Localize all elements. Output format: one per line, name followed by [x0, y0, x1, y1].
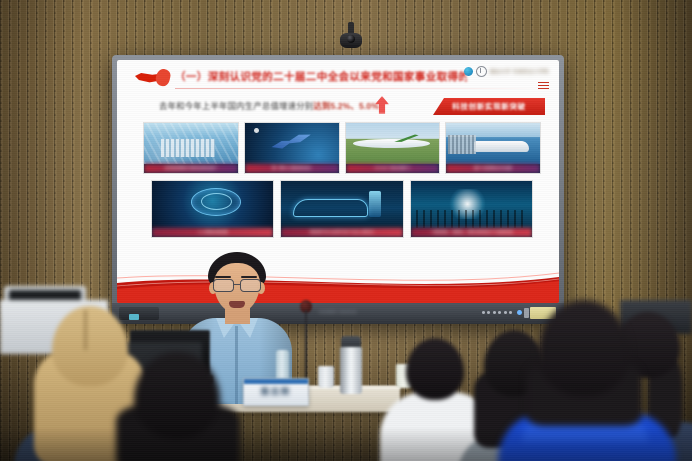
image-caption: 国产大型邮轮交付运营: [446, 164, 540, 173]
attendee-head: [538, 300, 630, 396]
paper-cup-left: [318, 366, 334, 388]
innovation-banner: 科技创新实现新突破: [433, 98, 545, 115]
green-industry-image: [411, 181, 532, 228]
globe-logo-icon: [464, 67, 473, 76]
hamburger-menu-icon[interactable]: [538, 82, 549, 91]
new-energy-vehicle-image: [281, 181, 402, 228]
image-caption: 人工智能加速发展: [152, 228, 273, 237]
slide-image-cell: 一批高端化、智能化、绿色化新型生产力加快形成: [410, 180, 533, 238]
eyeglasses-icon: [212, 279, 262, 291]
subtitle-prefix: 去年和今年上半年国内生产总值增速分别: [159, 101, 313, 111]
ai-digital-technology-image: [152, 181, 273, 228]
subtitle-highlight: 达到5.2%、5.0%: [313, 101, 379, 111]
camera-lens: [347, 35, 355, 43]
party-flag-icon: [135, 69, 171, 87]
conference-camera-icon: [338, 22, 364, 50]
bezel-button-row[interactable]: [482, 311, 513, 314]
slide-subtitle: 去年和今年上半年国内生产总值增速分别达到5.2%、5.0%: [159, 100, 379, 112]
image-caption: 第一颗6G卫星发射成功: [245, 164, 339, 173]
slide-title-bar: （一）深刻认识党的二十届二中全会以来党和国家事业取得的重大成就 烟台大学 马克思…: [117, 60, 559, 96]
thermos-flask: [340, 336, 362, 394]
achievement-image-row-top: 全球首座第四代核电站商运投产 第一颗6G卫星发射成功 C919大飞机实现商飞 国…: [143, 122, 541, 174]
image-caption: 一批高端化、智能化、绿色化新型生产力加快形成: [411, 228, 532, 237]
nuclear-power-plant-image: [144, 123, 238, 164]
meeting-room-photo: （一）深刻认识党的二十届二中全会以来党和国家事业取得的重大成就 烟台大学 马克思…: [0, 0, 692, 461]
c919-airliner-image: [346, 123, 440, 164]
slide-title: （一）深刻认识党的二十届二中全会以来党和国家事业取得的重大成就: [175, 67, 467, 87]
image-caption: C919大飞机实现商飞: [346, 164, 440, 173]
attendee-head: [134, 352, 220, 438]
slide-image-cell: 全球首座第四代核电站商运投产: [143, 122, 239, 174]
institution-logos: 烟台大学 马克思主义学院: [464, 66, 549, 77]
clock-logo-icon: [476, 66, 487, 77]
innovation-banner-label: 科技创新实现新突破: [452, 101, 526, 112]
achievement-image-row-bottom: 人工智能加速发展 新能源汽车为全球汽车产业注入新动力 一批高端化、智能化、绿色化…: [151, 180, 533, 238]
institution-name: 烟台大学 马克思主义学院: [490, 69, 549, 75]
foreground-shadow: [0, 427, 692, 461]
presenter-mouth: [229, 301, 245, 308]
attendee-head: [406, 338, 464, 400]
nameplate-text: 殷志刚: [244, 386, 308, 397]
slide-image-cell: 新能源汽车为全球汽车产业注入新动力: [280, 180, 403, 238]
presenter-eyebrow-right: [241, 276, 257, 278]
slide-image-cell: 国产大型邮轮交付运营: [445, 122, 541, 174]
slide-image-cell: 第一颗6G卫星发射成功: [244, 122, 340, 174]
title-divider: [175, 88, 545, 89]
slide-image-cell: 人工智能加速发展: [151, 180, 274, 238]
image-caption: 全球首座第四代核电站商运投产: [144, 164, 238, 173]
hair-parting: [84, 310, 87, 350]
image-caption: 新能源汽车为全球汽车产业注入新动力: [281, 228, 402, 237]
satellite-network-image: [245, 123, 339, 164]
slide-image-cell: C919大飞机实现商飞: [345, 122, 441, 174]
nameplate-header-bar: [244, 379, 308, 384]
thermos-body: [340, 347, 362, 394]
cruise-ship-image: [446, 123, 540, 164]
display-brand-label: HUAWEI IdeaHub: [319, 309, 357, 314]
presenter-eyebrow-left: [215, 276, 231, 278]
presenter-nameplate: 殷志刚: [243, 378, 309, 406]
